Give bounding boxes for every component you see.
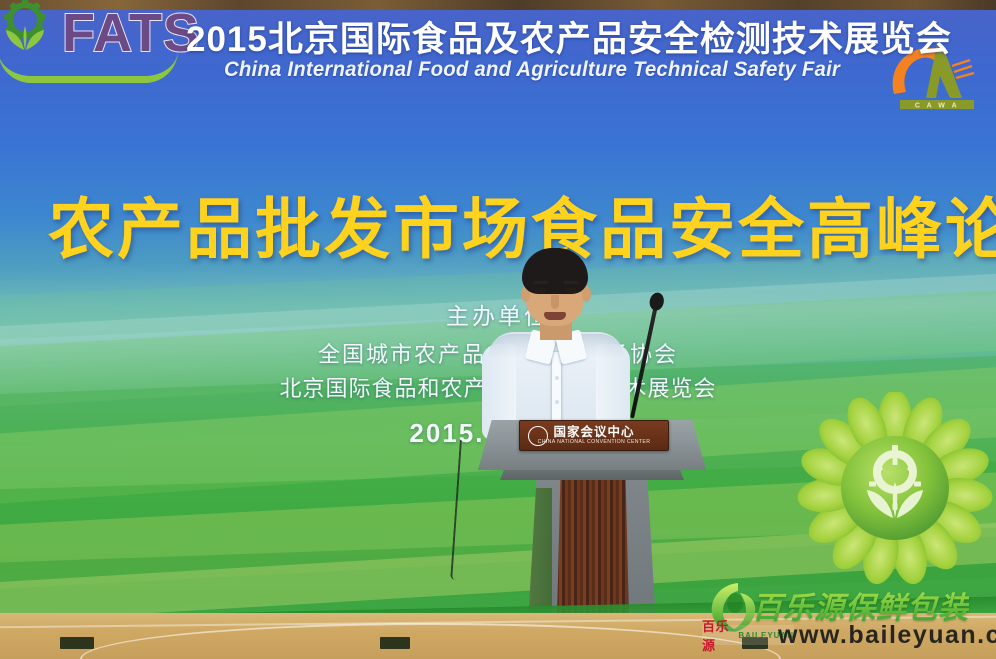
speaker-nose <box>551 295 559 309</box>
venue-sign-icon <box>528 426 548 446</box>
watermark-badge-cn: 百乐源 <box>702 616 736 654</box>
venue-sign: 国家会议中心 CHINA NATIONAL CONVENTION CENTER <box>519 420 669 451</box>
shirt-button-1 <box>555 376 559 380</box>
speaker-mouth <box>544 312 566 320</box>
shirt-button-2 <box>555 400 559 404</box>
conference-photo: FATS C A W A 2015北京国际食品及农产品安全检测技术展览会 Chi… <box>0 0 996 659</box>
fats-logo: FATS <box>2 0 178 88</box>
speaker-eyebrow-right <box>564 281 579 284</box>
floor-object-1 <box>60 637 94 649</box>
watermark: 百乐源保鲜包装 百乐源 BAILEYUAN www.baileyuan.cn <box>690 581 990 653</box>
svg-text:C A W A: C A W A <box>915 103 959 110</box>
banner-header-cn: 2015北京国际食品及农产品安全检测技术展览会 <box>186 11 952 62</box>
fats-gear-leaf-icon <box>0 0 54 54</box>
speaker-eye-right <box>565 288 577 293</box>
fats-green-swoosh <box>0 50 178 83</box>
speaker-hair <box>522 248 588 294</box>
venue-sign-en: CHINA NATIONAL CONVENTION CENTER <box>538 439 651 445</box>
speaker-eyebrow-left <box>533 281 548 284</box>
watermark-url: www.baileyuan.cn <box>778 621 996 650</box>
venue-sign-cn: 国家会议中心 <box>553 426 634 439</box>
banner-header-en: China International Food and Agriculture… <box>224 58 840 82</box>
floor-court-arc <box>80 623 781 659</box>
floor-object-2 <box>380 637 410 649</box>
speaker-eye-left <box>534 288 546 293</box>
